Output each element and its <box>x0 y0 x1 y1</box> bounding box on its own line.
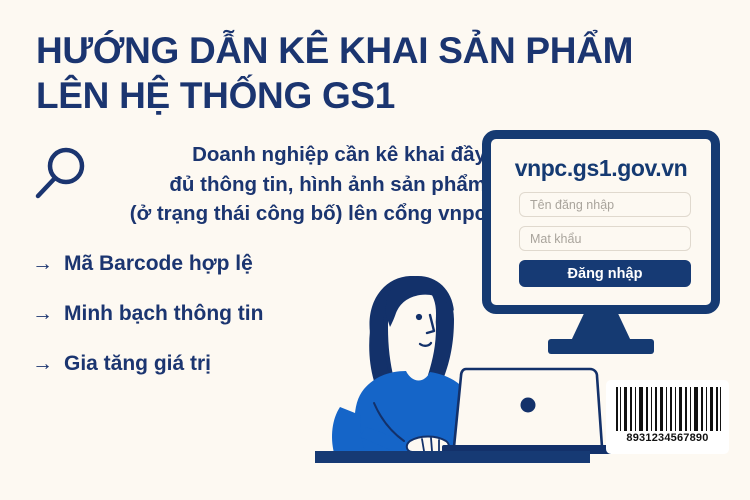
arrow-right-icon: → <box>32 303 53 324</box>
list-item-label: Gia tăng giá trị <box>64 352 211 375</box>
intro-block: Doanh nghiệp cần kê khai đầy đủ thông ti… <box>26 140 486 238</box>
page-title: HƯỚNG DẪN KÊ KHAI SẢN PHẨM LÊN HỆ THỐNG … <box>36 28 676 118</box>
barcode-number: 8931234567890 <box>614 432 721 444</box>
woman-at-laptop-illustration <box>300 255 620 470</box>
arrow-right-icon: → <box>32 353 53 374</box>
intro-text: Doanh nghiệp cần kê khai đầy đủ thông ti… <box>26 140 486 229</box>
poster-canvas: HƯỚNG DẪN KÊ KHAI SẢN PHẨM LÊN HỆ THỐNG … <box>0 0 750 500</box>
list-item-label: Minh bạch thông tin <box>64 302 263 325</box>
barcode: 8931234567890 <box>606 380 729 454</box>
site-url: vnpc.gs1.gov.vn <box>491 155 711 182</box>
list-item-label: Mã Barcode hợp lệ <box>64 252 253 275</box>
barcode-bars <box>614 387 721 431</box>
arrow-right-icon: → <box>32 253 53 274</box>
username-input[interactable]: Tên đăng nhập <box>519 192 691 217</box>
password-input[interactable]: Mat khẩu <box>519 226 691 251</box>
